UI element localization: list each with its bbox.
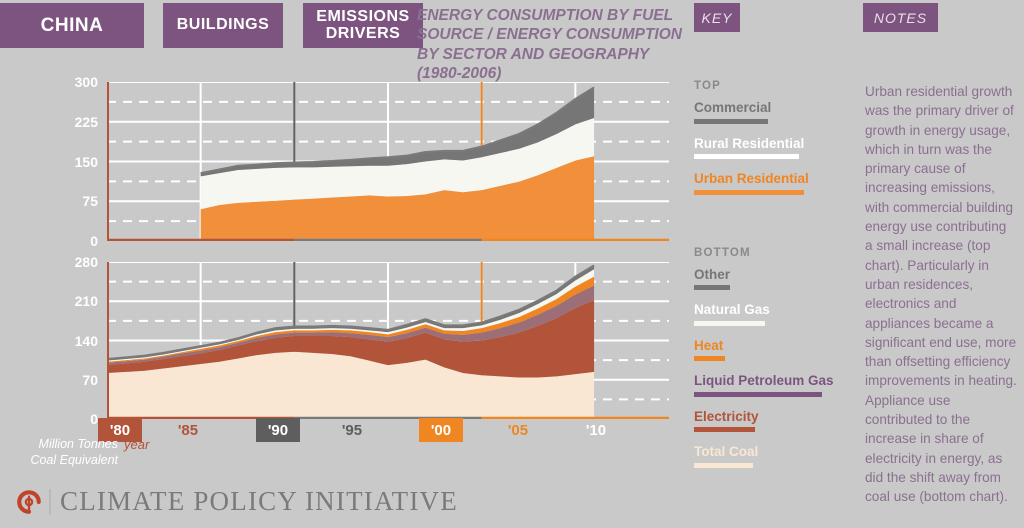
tab-key-label: KEY xyxy=(701,10,732,26)
key-item-label: Natural Gas xyxy=(694,302,844,318)
x-tick-label: '85 xyxy=(178,422,198,439)
key-item-rural-residential[interactable]: Rural Residential xyxy=(694,136,844,160)
key-item-label: Urban Residential xyxy=(694,171,844,187)
notes-text: Urban residential growth was the primary… xyxy=(865,82,1017,507)
key-bottom-group-label: BOTTOM xyxy=(694,247,844,259)
key-swatch xyxy=(694,285,730,290)
y-label: 0 xyxy=(90,233,98,249)
y-label: 280 xyxy=(75,254,98,270)
key-item-total-coal[interactable]: Total Coal xyxy=(694,444,844,468)
x-tick-label: '00 xyxy=(431,422,451,439)
key-swatch xyxy=(694,356,725,361)
key-swatch xyxy=(694,463,753,468)
top-chart-y-labels: 300 225 150 75 0 xyxy=(28,82,98,241)
key-item-label: Rural Residential xyxy=(694,136,844,152)
key-swatch xyxy=(694,321,765,326)
tab-china[interactable]: CHINA xyxy=(0,3,144,48)
key-item-other[interactable]: Other xyxy=(694,267,844,291)
tab-buildings[interactable]: BUILDINGS xyxy=(163,3,283,48)
y-label: 70 xyxy=(82,372,98,388)
tab-emissions-drivers[interactable]: EMISSIONS DRIVERS xyxy=(303,3,423,48)
x-tick-05: '05 xyxy=(496,418,540,442)
tab-notes-label: NOTES xyxy=(874,10,927,26)
key-item-label: Heat xyxy=(694,338,844,354)
key-swatch xyxy=(694,154,799,159)
key-item-natural-gas[interactable]: Natural Gas xyxy=(694,302,844,326)
key-item-commercial[interactable]: Commercial xyxy=(694,100,844,124)
key-item-urban-residential[interactable]: Urban Residential xyxy=(694,171,844,195)
x-tick-90: '90 xyxy=(256,418,300,442)
key-item-electricity[interactable]: Electricity xyxy=(694,409,844,433)
tab-emissions-drivers-label: EMISSIONS DRIVERS xyxy=(303,9,423,43)
bottom-chart-y-labels: 280 210 140 70 0 xyxy=(28,262,98,419)
y-label: 225 xyxy=(75,114,98,130)
key-item-label: Commercial xyxy=(694,100,844,116)
y-label: 75 xyxy=(82,193,98,209)
tab-key[interactable]: KEY xyxy=(694,3,740,32)
x-tick-label: '90 xyxy=(268,422,288,439)
key-swatch xyxy=(694,392,822,397)
tab-china-label: CHINA xyxy=(41,16,104,36)
footer: CLIMATE POLICY INITIATIVE xyxy=(14,486,458,517)
key-bottom-group: BOTTOM Other Natural Gas Heat Liquid Pet… xyxy=(694,247,844,468)
x-tick-10: '10 xyxy=(574,418,618,442)
tab-buildings-label: BUILDINGS xyxy=(177,17,270,34)
top-chart xyxy=(107,82,669,241)
key-swatch xyxy=(694,427,755,432)
key-item-liquid-petroleum-gas[interactable]: Liquid Petroleum Gas xyxy=(694,373,844,397)
x-tick-00: '00 xyxy=(419,418,463,442)
key-item-label: Other xyxy=(694,267,844,283)
cpi-logo-icon xyxy=(14,487,44,517)
key-item-heat[interactable]: Heat xyxy=(694,338,844,362)
x-tick-label: '95 xyxy=(342,422,362,439)
x-tick-label: '10 xyxy=(586,422,606,439)
y-label: 140 xyxy=(75,333,98,349)
x-tick-label: '80 xyxy=(110,422,130,439)
key-swatch xyxy=(694,119,768,124)
key-item-label: Total Coal xyxy=(694,444,844,460)
key-item-label: Liquid Petroleum Gas xyxy=(694,373,844,389)
key-panel: TOP Commercial Rural Residential Urban R… xyxy=(694,80,844,480)
bottom-chart xyxy=(107,262,669,419)
y-label: 150 xyxy=(75,154,98,170)
brand-name: CLIMATE POLICY INITIATIVE xyxy=(60,486,458,517)
key-swatch xyxy=(694,190,804,195)
page-title: ENERGY CONSUMPTION BY FUEL SOURCE / ENER… xyxy=(417,6,689,84)
x-tick-95: '95 xyxy=(330,418,374,442)
x-tick-label: '05 xyxy=(508,422,528,439)
y-label: 300 xyxy=(75,74,98,90)
axis-year-label: year xyxy=(124,437,149,452)
axis-unit-label: Million Tonnes Coal Equivalent xyxy=(22,437,118,468)
key-item-label: Electricity xyxy=(694,409,844,425)
y-label: 210 xyxy=(75,293,98,309)
key-top-group: TOP Commercial Rural Residential Urban R… xyxy=(694,80,844,195)
tab-notes[interactable]: NOTES xyxy=(863,3,938,32)
x-tick-85: '85 xyxy=(166,418,210,442)
logo-divider xyxy=(49,489,51,515)
key-top-group-label: TOP xyxy=(694,80,844,92)
